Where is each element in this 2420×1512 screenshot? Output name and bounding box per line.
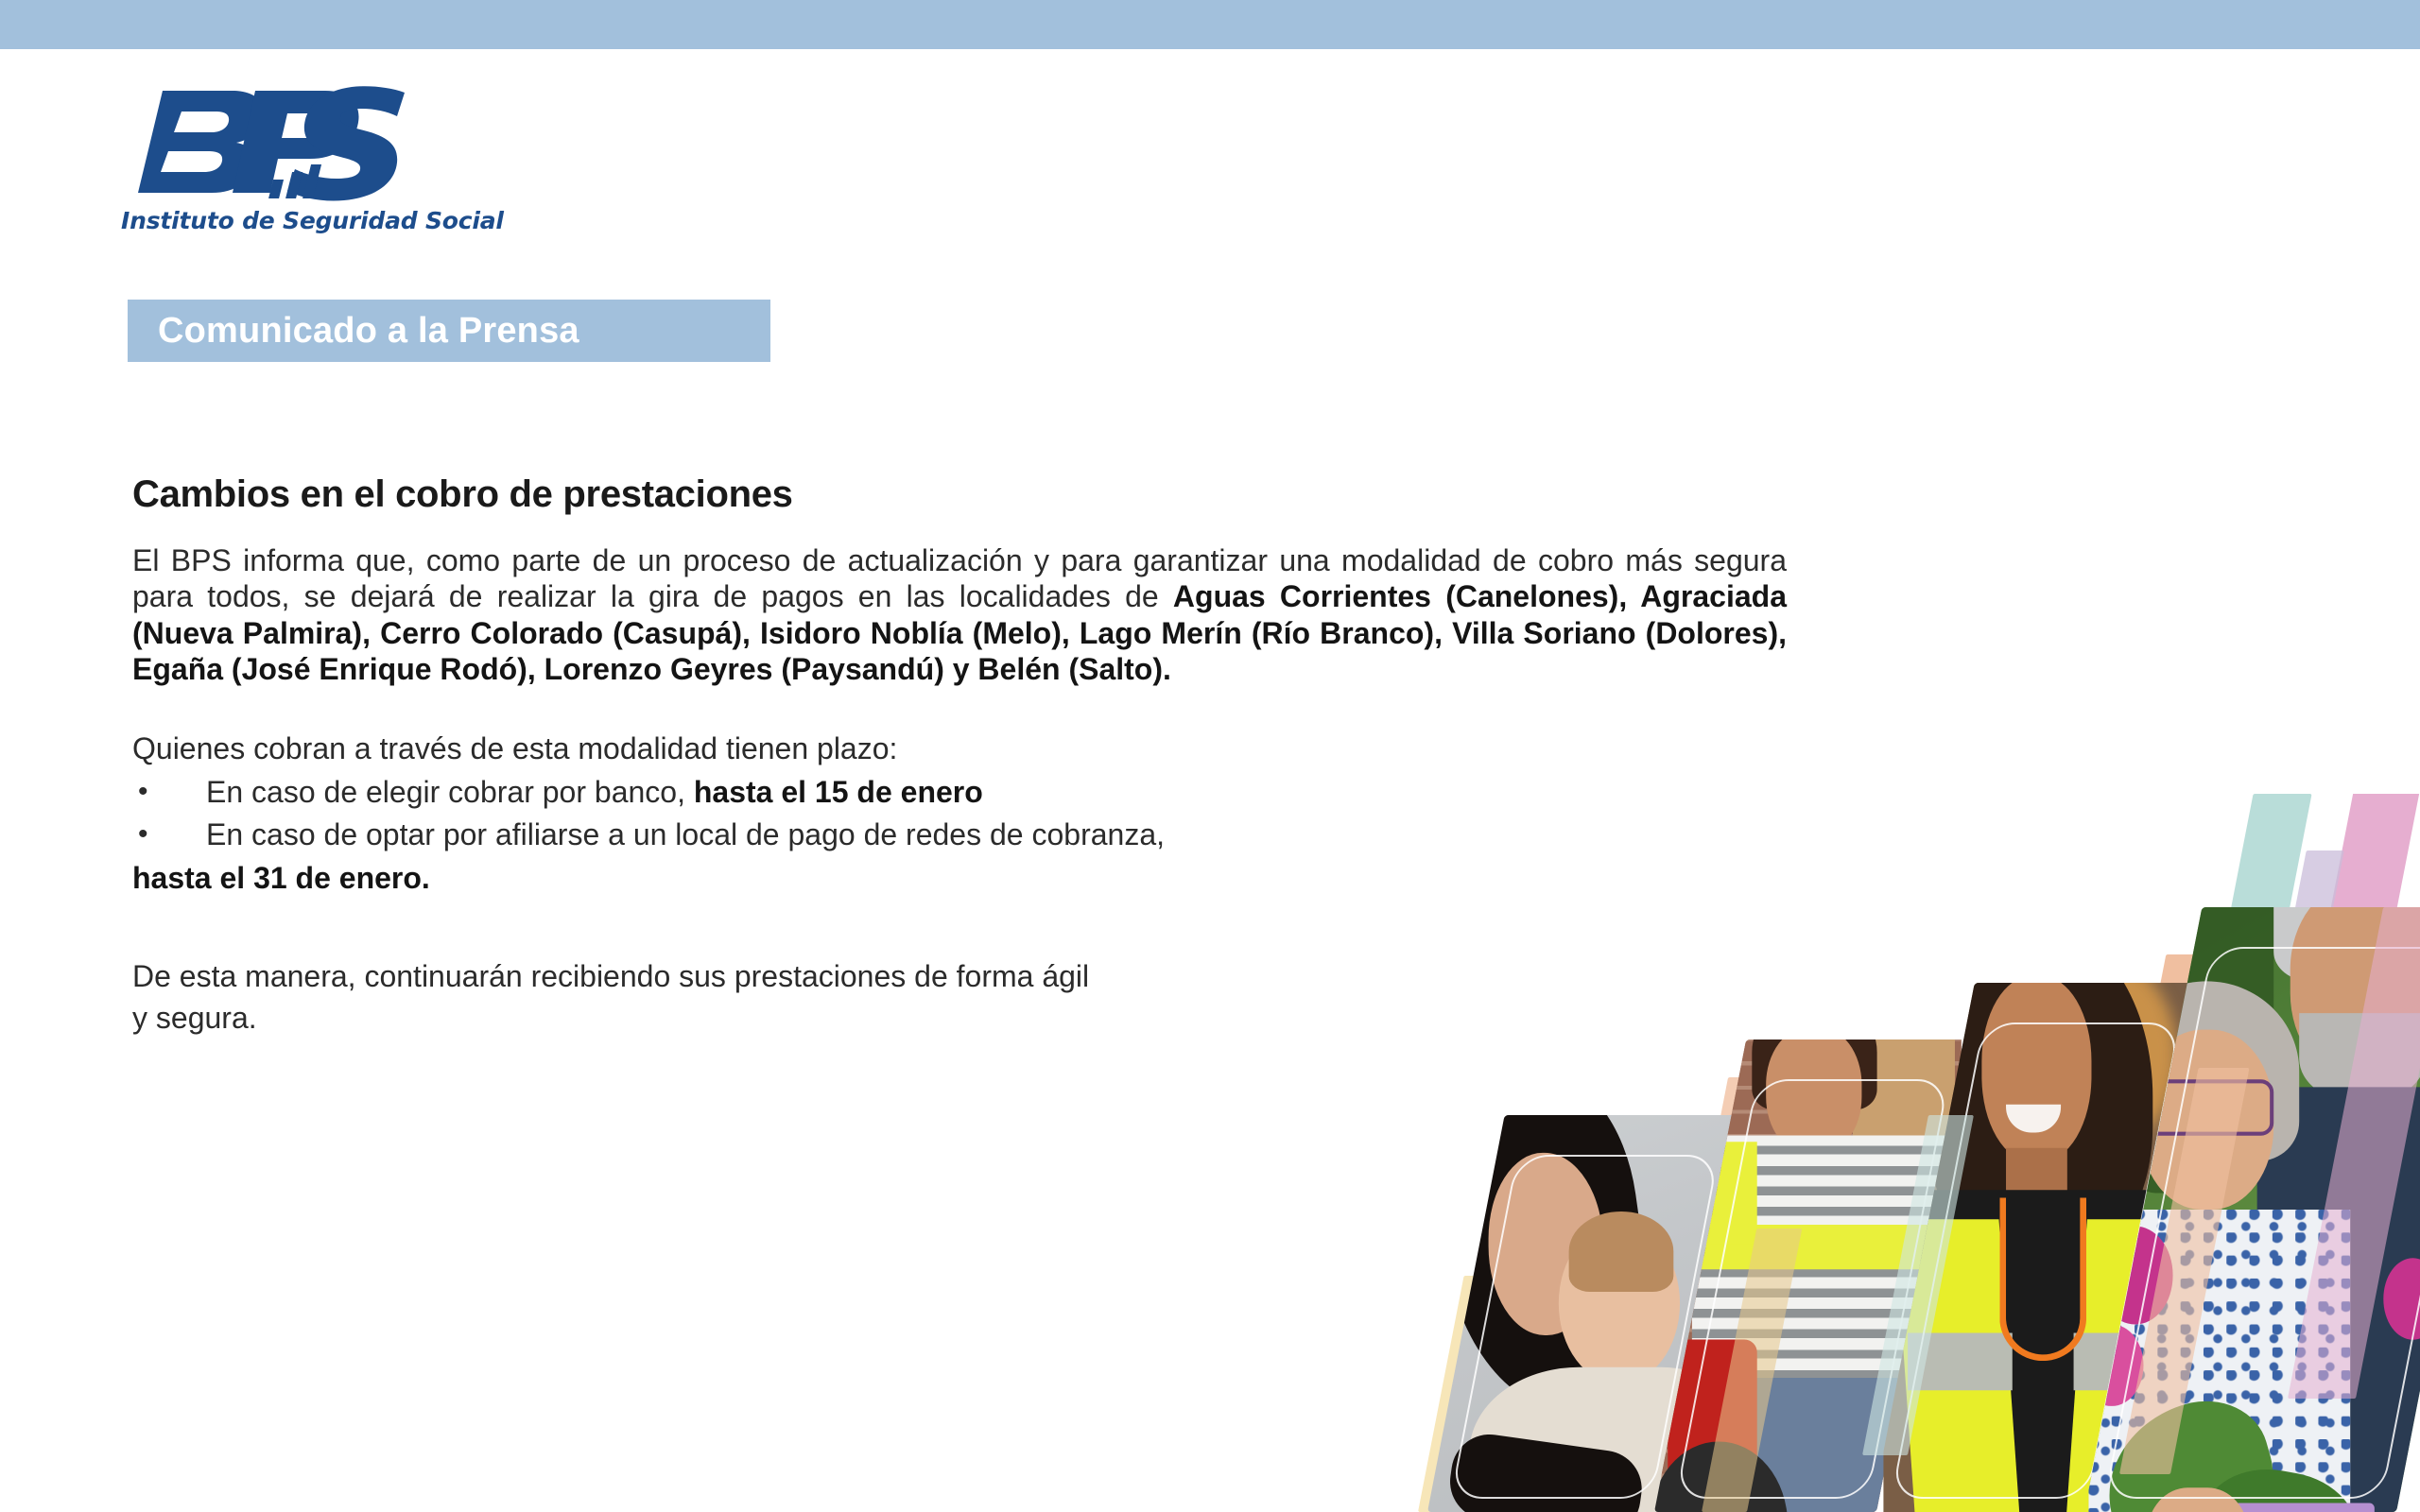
closing-line-1: De esta manera, continuarán recibiendo s…	[132, 956, 1787, 997]
top-accent-bar	[0, 0, 2420, 49]
deadline-lead-text: Quienes cobran a través de esta modalida…	[132, 730, 1787, 767]
photo-frame-outline	[2104, 947, 2420, 1499]
decorative-stripe-pink	[2259, 794, 2420, 1276]
decorative-stripe-lilac	[2012, 1087, 2131, 1399]
page-title: Cambios en el cobro de prestaciones	[132, 472, 1787, 516]
decorative-stripe-overlay-pink	[2288, 907, 2420, 1399]
bullet-normal-text: En caso de elegir cobrar por banco,	[206, 775, 694, 809]
decorative-stripe-aqua	[1530, 1370, 1612, 1512]
list-item: •En caso de elegir cobrar por banco, has…	[132, 773, 1787, 813]
photo-frame-outline	[1891, 1022, 2181, 1499]
decorative-stripe-overlay-peach	[2119, 1068, 2250, 1474]
photo-frame-outline	[1675, 1079, 1949, 1499]
deadline-bullet-list: •En caso de elegir cobrar por banco, has…	[132, 773, 1787, 855]
decorative-stripe-peach	[2080, 954, 2224, 1399]
bullet-continuation-bold-text: hasta el 31 de enero.	[132, 859, 1787, 899]
decorative-stripe-cream	[1910, 1058, 2025, 1370]
list-item: •En caso de optar por afiliarse a un loc…	[132, 816, 1787, 855]
closing-line-2: y segura.	[132, 998, 1787, 1039]
logo-subtitle: Instituto de Seguridad Social	[121, 207, 527, 234]
decorative-stripe-butter	[1418, 1276, 1519, 1512]
bps-logo: Instituto de Seguridad Social	[121, 85, 527, 234]
intro-paragraph: El BPS informa que, como parte de un pro…	[132, 542, 1787, 688]
photo-boy-in-wheelchair	[1654, 1039, 1968, 1512]
bps-wordmark-icon	[121, 85, 423, 203]
spacer	[132, 688, 1787, 730]
bullet-dot-icon: •	[138, 816, 148, 852]
press-release-banner-label: Comunicado a la Prensa	[158, 311, 579, 352]
bullet-dot-icon: •	[138, 773, 148, 810]
photo-woman-worker	[1872, 983, 2202, 1512]
decorative-stripe-overlay-mint	[1862, 1115, 1974, 1455]
bullet-normal-text: En caso de optar por afiliarse a un loca…	[206, 817, 1165, 851]
photo-frame-outline	[1450, 1155, 1720, 1499]
document-body: Cambios en el cobro de prestaciones El B…	[132, 472, 1787, 1039]
decorative-stripe-salmon	[1666, 1077, 1783, 1399]
spacer	[132, 898, 1787, 956]
bullet-bold-text: hasta el 15 de enero	[694, 775, 983, 809]
photo-elderly-couple-with-orchid	[2084, 907, 2420, 1512]
decorative-stripe-violet	[1473, 1314, 1570, 1512]
photo-mother-and-baby	[1427, 1115, 1741, 1512]
decorative-stripe-overlay-gold	[1702, 1228, 1802, 1512]
press-release-banner: Comunicado a la Prensa	[128, 300, 770, 362]
decorative-stripe-teal	[2174, 794, 2312, 1200]
decorative-stripe-lavender	[2233, 850, 2344, 1228]
decorative-stripe-mint	[1848, 1058, 1958, 1342]
